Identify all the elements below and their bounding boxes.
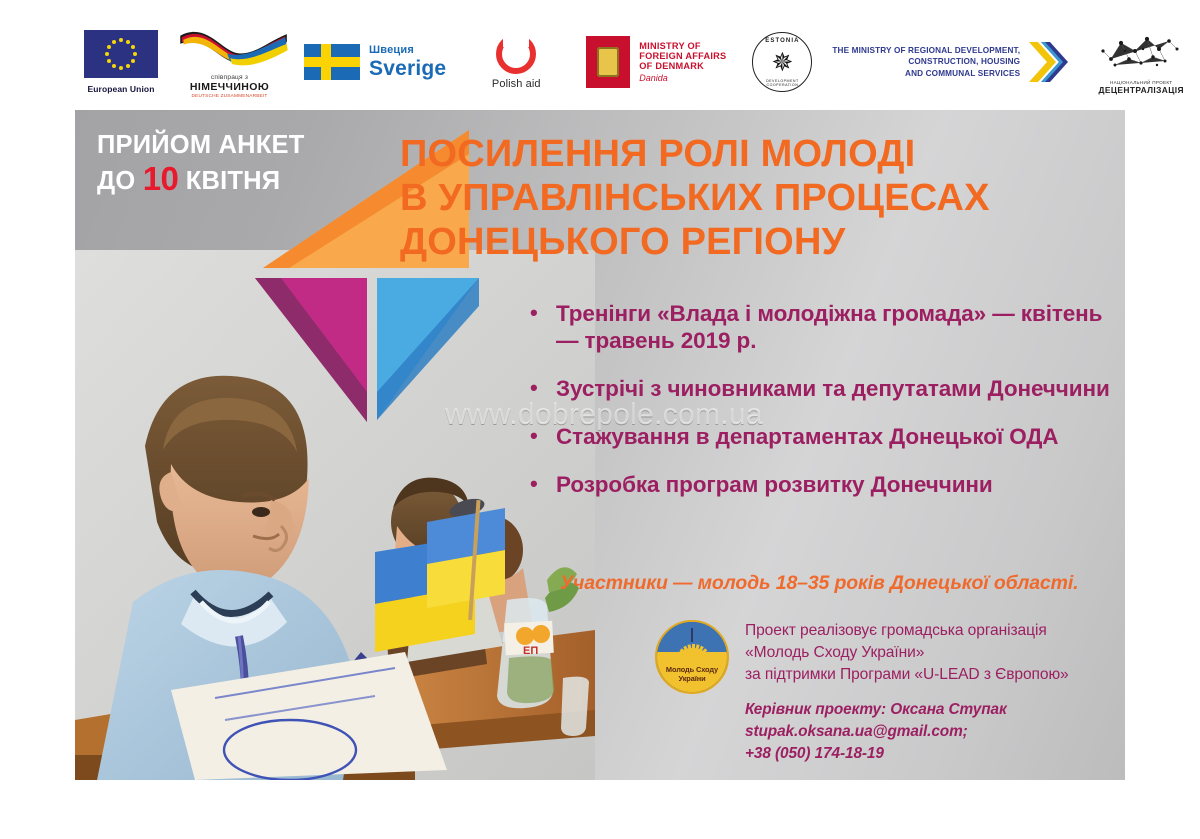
- organiser-line3: за підтримки Програми «U-LEAD з Європою»: [745, 664, 1105, 686]
- deadline-block: ПРИЙОМ АНКЕТ ДО 10 КВІТНЯ: [97, 132, 347, 197]
- bullet-dot-icon: •: [530, 375, 556, 402]
- deadline-line2-post: КВІТНЯ: [178, 167, 280, 195]
- mrd-line2: CONSTRUCTION, HOUSING: [832, 56, 1020, 67]
- deadline-number: 10: [143, 160, 179, 197]
- denmark-line2: FOREIGN AFFAIRS: [639, 51, 726, 61]
- denmark-crest-icon: [586, 36, 630, 88]
- eu-flag-icon: [84, 30, 158, 78]
- germany-line2: НІМЕЧЧИНОЮ: [177, 81, 282, 93]
- logo-european-union: European Union: [75, 30, 167, 94]
- germany-line3: DEUTSCHE ZUSAMMENARBEIT: [177, 94, 282, 99]
- donor-logo-bar: European Union співпраця з НІМЕЧЧИНОЮ DE…: [75, 18, 1125, 106]
- bullet-dot-icon: •: [530, 300, 556, 354]
- estonia-seal-icon: ESTONIA ✵ DEVELOPMENT COOPERATION: [752, 32, 812, 92]
- deadline-line2-pre: ДО: [97, 167, 143, 195]
- bullet-text: Зустрічі з чиновниками та депутатами Дон…: [556, 375, 1110, 402]
- logo-estonia: ESTONIA ✵ DEVELOPMENT COOPERATION: [752, 32, 812, 92]
- bullet-dot-icon: •: [530, 423, 556, 450]
- list-item: • Тренінги «Влада і молодіжна громада» —…: [530, 300, 1110, 354]
- double-chevron-icon: [1027, 39, 1071, 85]
- list-item: • Зустрічі з чиновниками та депутатами Д…: [530, 375, 1110, 402]
- poster-panel: ЕП ПРИЙОМ АНКЕТ: [75, 110, 1125, 780]
- estonia-top-text: ESTONIA: [753, 38, 811, 44]
- org-logo-line2: України: [657, 674, 727, 683]
- deadline-line1: ПРИЙОМ АНКЕТ: [97, 131, 305, 159]
- logo-sweden: Швеция Sverige: [304, 44, 446, 80]
- headline-block: ПОСИЛЕННЯ РОЛІ МОЛОДІ В УПРАВЛІНСЬКИХ ПР…: [400, 132, 1100, 264]
- network-dots-icon: [1091, 29, 1191, 73]
- list-item: • Стажування в департаментах Донецької О…: [530, 423, 1110, 450]
- mrd-line3: AND COMMUNAL SERVICES: [832, 68, 1020, 79]
- sweden-flag-icon: [304, 44, 360, 80]
- participants-note: Участники — молодь 18–35 років Донецької…: [560, 572, 1120, 595]
- sweden-line1: Швеция: [369, 45, 446, 56]
- org-logo-line1: Молодь Сходу: [657, 665, 727, 674]
- logo-ministry-regional-development: THE MINISTRY OF REGIONAL DEVELOPMENT, CO…: [832, 39, 1071, 85]
- organiser-line1: Проект реалізовує громадська організація: [745, 620, 1105, 642]
- denmark-line4: Danida: [639, 73, 726, 83]
- eu-caption: European Union: [75, 84, 167, 94]
- headline-line1: ПОСИЛЕННЯ РОЛІ МОЛОДІ: [400, 132, 1100, 176]
- germany-swoosh-icon: [177, 26, 290, 68]
- bullet-dot-icon: •: [530, 471, 556, 498]
- headline-line3: ДОНЕЦЬКОГО РЕГІОНУ: [400, 220, 1100, 264]
- polish-aid-icon: [496, 34, 536, 74]
- sweden-line2: Sverige: [369, 58, 446, 79]
- logo-denmark-mfa: MINISTRY OF FOREIGN AFFAIRS OF DENMARK D…: [586, 36, 726, 88]
- headline-line2: В УПРАВЛІНСЬКИХ ПРОЦЕСАХ: [400, 176, 1100, 220]
- organiser-line2: «Молодь Сходу України»: [745, 642, 1105, 664]
- organisation-logo-icon: Молодь Сходу України: [655, 620, 729, 694]
- logo-polish-aid: Polish aid: [470, 34, 562, 90]
- mrd-line1: THE MINISTRY OF REGIONAL DEVELOPMENT,: [832, 45, 1020, 56]
- svg-text:ЕП: ЕП: [523, 645, 538, 657]
- logo-decentralisation: НАЦІОНАЛЬНИЙ ПРОЕКТ ДЕЦЕНТРАЛІЗАЦІЯ: [1091, 29, 1191, 95]
- decentralisation-line2: ДЕЦЕНТРАЛІЗАЦІЯ: [1091, 85, 1191, 95]
- germany-line1: співпраця з: [177, 74, 282, 81]
- contact-block: Керівник проекту: Оксана Ступак stupak.o…: [745, 699, 1105, 764]
- bullet-text: Тренінги «Влада і молодіжна громада» — к…: [556, 300, 1110, 354]
- list-item: • Розробка програм розвитку Донеччини: [530, 471, 1110, 498]
- contact-email[interactable]: stupak.oksana.ua@gmail.com;: [745, 721, 1105, 743]
- polish-aid-caption: Polish aid: [470, 78, 562, 90]
- estonia-bottom-text: DEVELOPMENT COOPERATION: [753, 79, 811, 87]
- contact-phone[interactable]: +38 (050) 174-18-19: [745, 743, 1105, 765]
- contact-manager: Керівник проекту: Оксана Ступак: [745, 699, 1105, 721]
- bullet-text: Розробка програм розвитку Донеччини: [556, 471, 1110, 498]
- poster-root: European Union співпраця з НІМЕЧЧИНОЮ DE…: [0, 0, 1200, 839]
- denmark-line3: OF DENMARK: [639, 61, 726, 71]
- logo-germany-cooperation: співпраця з НІМЕЧЧИНОЮ DEUTSCHE ZUSAMMEN…: [177, 26, 282, 99]
- bullet-list: • Тренінги «Влада і молодіжна громада» —…: [530, 300, 1110, 519]
- denmark-line1: MINISTRY OF: [639, 41, 726, 51]
- organiser-block: Молодь Сходу України Проект реалізовує г…: [655, 620, 1105, 764]
- bullet-text: Стажування в департаментах Донецької ОДА: [556, 423, 1110, 450]
